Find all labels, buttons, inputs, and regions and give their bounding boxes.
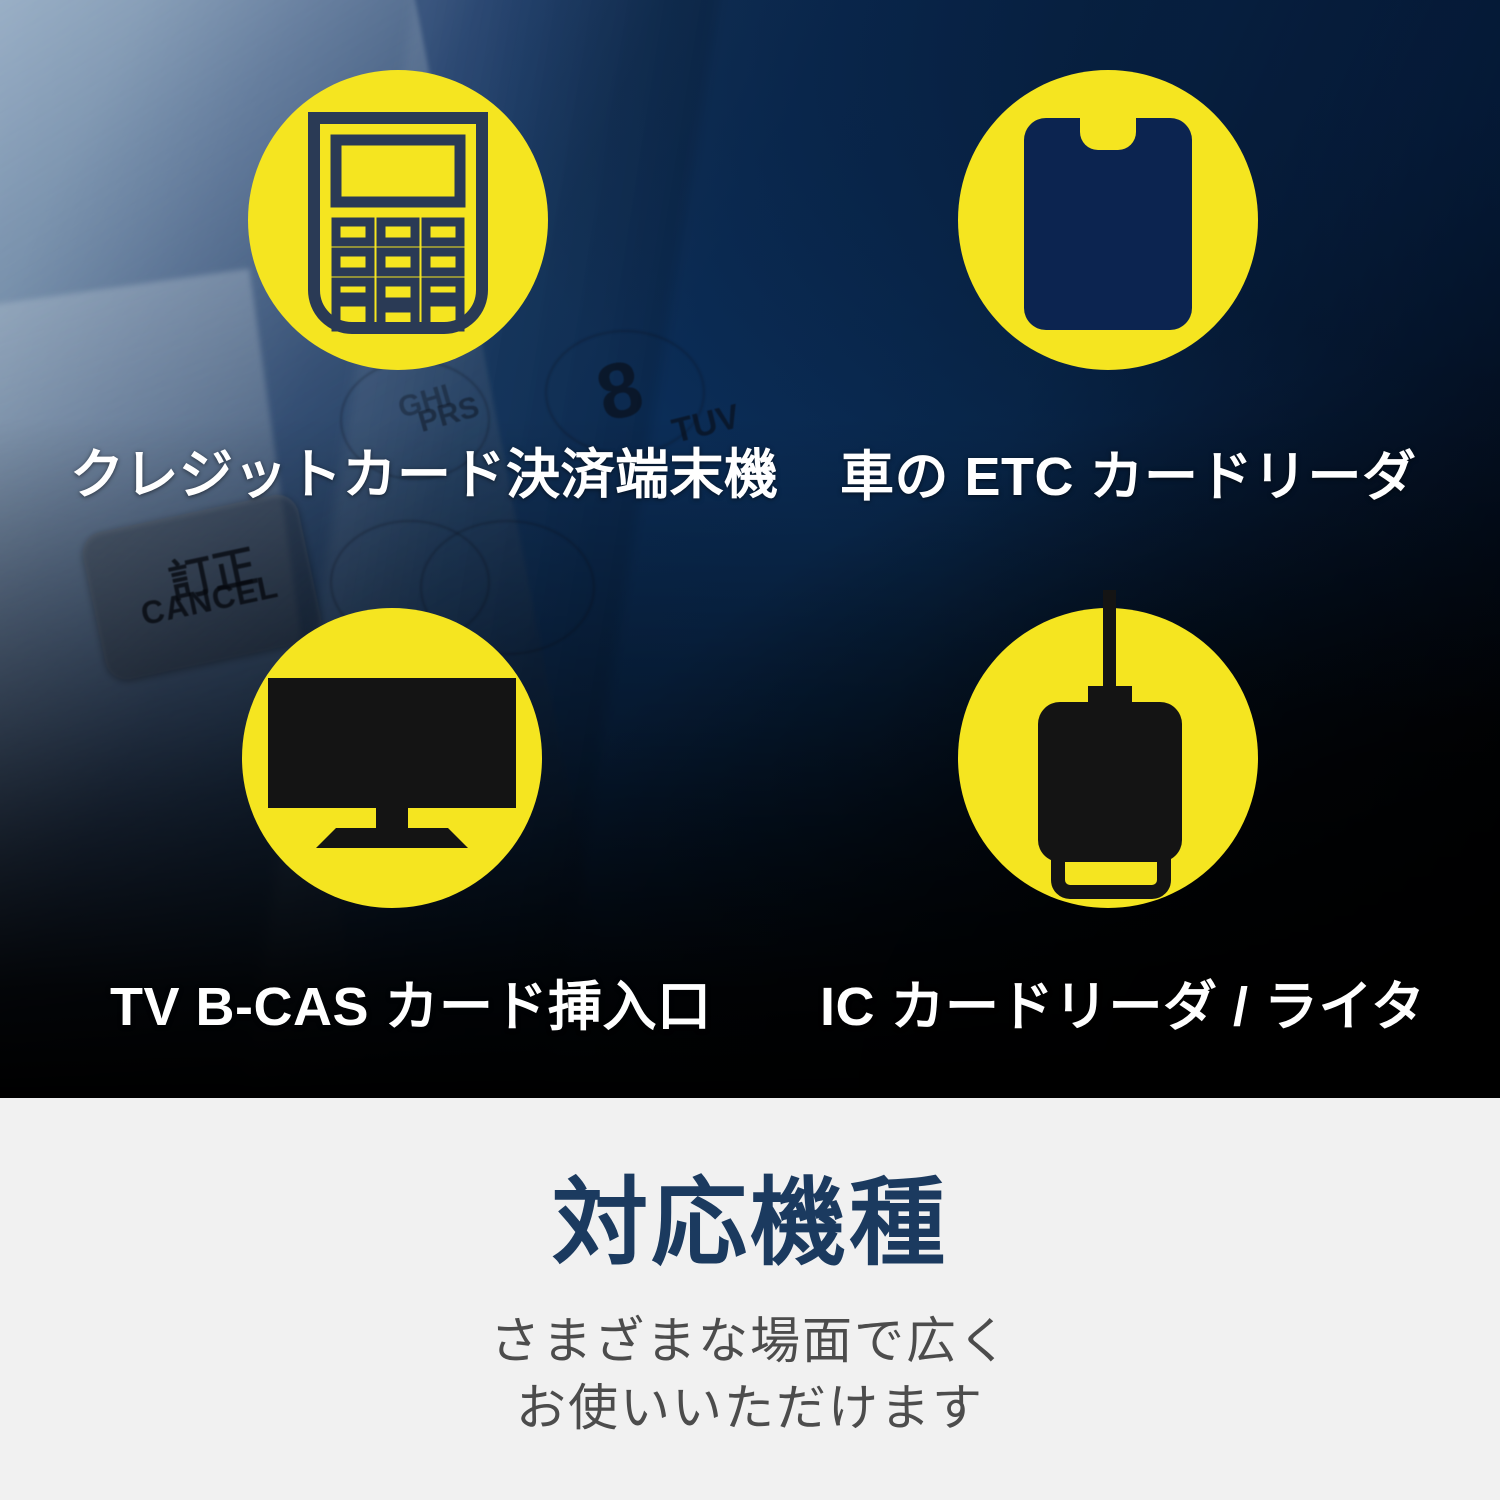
ic-card-reader-icon <box>1018 590 1202 908</box>
smartphone-icon <box>1024 118 1192 330</box>
calculator-terminal-icon <box>308 112 488 334</box>
feature-label: IC カードリーダ / ライタ <box>820 962 1425 1041</box>
footer-subtitle-line-2: お使いいただけます <box>490 1375 1010 1442</box>
feature-label: クレジットカード決済端末機 <box>70 430 779 509</box>
product-feature-banner: 8 TUV PRS GHI 訂正 CANCEL <box>0 0 1500 1500</box>
feature-label: 車の ETC カードリーダ <box>840 432 1417 511</box>
footer-subtitle: さまざまな場面で広く お使いいただけます <box>490 1308 1010 1442</box>
television-icon <box>268 678 516 848</box>
footer-title: 対応機種 <box>552 1176 948 1272</box>
footer-panel: 対応機種 さまざまな場面で広く お使いいただけます <box>0 1098 1500 1500</box>
hero-photo-panel: 8 TUV PRS GHI 訂正 CANCEL <box>0 0 1500 1098</box>
feature-label: TV B-CAS カード挿入口 <box>110 962 712 1041</box>
footer-subtitle-line-1: さまざまな場面で広く <box>490 1308 1010 1375</box>
background-vignette <box>0 0 1500 1098</box>
